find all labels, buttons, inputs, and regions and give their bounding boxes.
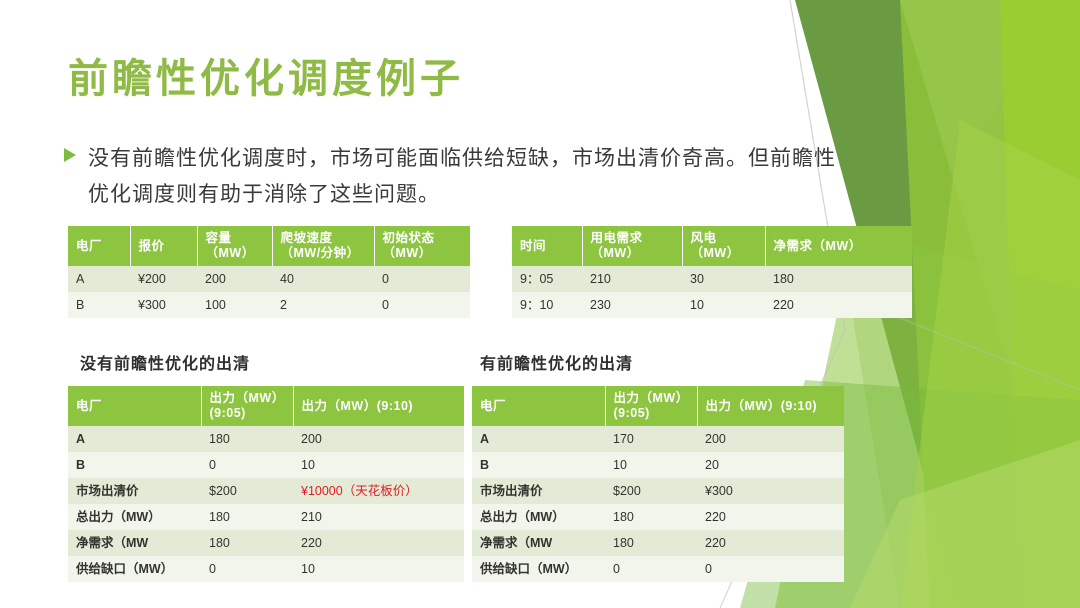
cell: 180 [201,504,293,530]
col-header-capacity: 容量（MW） [197,226,272,266]
col-header-plant: 电厂 [68,386,201,426]
table-row: A 170 200 [472,426,844,452]
table-row: 净需求（MW 180 220 [472,530,844,556]
cell: 210 [293,504,464,530]
cell: $200 [201,478,293,504]
row-label: 总出力（MW） [472,504,605,530]
table-row: 市场出清价 $200 ¥10000（天花板价） [68,478,464,504]
table-row: 总出力（MW） 180 210 [68,504,464,530]
col-header-initial-state-label: 初始状态（MW） [383,231,435,260]
cell: 0 [374,292,470,318]
cell: 30 [682,266,765,292]
col-header-plant-label: 电厂 [76,239,102,253]
col-header-plant-label: 电厂 [76,399,102,413]
cell: 180 [201,530,293,556]
cell-shortfall: 10 [293,556,464,582]
cell: 180 [765,266,912,292]
subheading-with-lookahead: 有前瞻性优化的出清 [480,350,633,374]
row-label: 净需求（MW [68,530,201,556]
table-with-lookahead-clearing: 电厂 出力（MW）(9:05) 出力（MW）(9:10) A 170 200 B… [472,386,844,582]
col-header-output-905-label: 出力（MW）(9:05) [614,391,683,420]
col-header-ramp-rate-label: 爬坡速度（MW/分钟） [281,231,360,260]
deco-shape-bright-green [1000,0,1080,608]
row-label: 供给缺口（MW） [68,556,201,582]
cell: 9：05 [512,266,582,292]
cell: 10 [682,292,765,318]
cell-clearing-price: ¥300 [697,478,844,504]
cell: 0 [374,266,470,292]
bullet-paragraph: 没有前瞻性优化调度时，市场可能面临供给短缺，市场出清价奇高。但前瞻性优化调度则有… [64,140,844,212]
table-row: 供给缺口（MW） 0 0 [472,556,844,582]
table-generators: 电厂 报价 容量（MW） 爬坡速度（MW/分钟） 初始状态（MW） A ¥200… [68,226,470,318]
table-row: 净需求（MW 180 220 [68,530,464,556]
row-label: A [68,426,201,452]
cell: 180 [605,504,697,530]
cell: 180 [201,426,293,452]
cell-shortfall: 0 [697,556,844,582]
table-row: 9：05 210 30 180 [512,266,912,292]
table-row: 9：10 230 10 220 [512,292,912,318]
col-header-wind: 风电（MW） [682,226,765,266]
cell: 220 [697,504,844,530]
row-label: B [68,452,201,478]
subheading-no-lookahead: 没有前瞻性优化的出清 [80,350,250,374]
col-header-output-905: 出力（MW）(9:05) [605,386,697,426]
deco-shape-right-wedge [900,120,1080,608]
cell: 20 [697,452,844,478]
table-row: 总出力（MW） 180 220 [472,504,844,530]
price-cap-value: ¥10000 [301,484,343,498]
cell: 200 [293,426,464,452]
row-label: A [472,426,605,452]
table-row: A ¥200 200 40 0 [68,266,470,292]
col-header-capacity-label: 容量（MW） [206,231,255,260]
cell: 0 [201,452,293,478]
row-label: B [472,452,605,478]
col-header-load-demand-label: 用电需求（MW） [591,231,643,260]
cell: 180 [605,530,697,556]
table-no-lookahead-clearing: 电厂 出力（MW）(9:05) 出力（MW）(9:10) A 180 200 B… [68,386,464,582]
cell: 10 [605,452,697,478]
table-row: 供给缺口（MW） 0 10 [68,556,464,582]
cell: 220 [293,530,464,556]
deco-shape-bottom-light [850,440,1080,608]
col-header-ramp-rate: 爬坡速度（MW/分钟） [272,226,374,266]
col-header-output-905-label: 出力（MW）(9:05) [210,391,279,420]
cell: A [68,266,130,292]
col-header-output-910-label: 出力（MW）(9:10) [302,399,414,413]
row-label: 市场出清价 [472,478,605,504]
col-header-load-demand: 用电需求（MW） [582,226,682,266]
col-header-time-label: 时间 [520,239,546,253]
cell: $200 [605,478,697,504]
cell: 9：10 [512,292,582,318]
cell: 170 [605,426,697,452]
table-header-row: 时间 用电需求（MW） 风电（MW） 净需求（MW） [512,226,912,266]
col-header-plant: 电厂 [68,226,130,266]
bullet-text: 没有前瞻性优化调度时，市场可能面临供给短缺，市场出清价奇高。但前瞻性优化调度则有… [88,140,844,212]
col-header-output-905: 出力（MW）(9:05) [201,386,293,426]
table-row: A 180 200 [68,426,464,452]
cell: 10 [293,452,464,478]
cell: 0 [201,556,293,582]
cell: 0 [605,556,697,582]
cell: 40 [272,266,374,292]
table-header-row: 电厂 报价 容量（MW） 爬坡速度（MW/分钟） 初始状态（MW） [68,226,470,266]
row-label: 供给缺口（MW） [472,556,605,582]
table-row: 市场出清价 $200 ¥300 [472,478,844,504]
col-header-initial-state: 初始状态（MW） [374,226,470,266]
table-row: B 10 20 [472,452,844,478]
table-row: B ¥300 100 2 0 [68,292,470,318]
col-header-net-demand-label: 净需求（MW） [774,239,862,253]
cell: 200 [197,266,272,292]
cell: ¥200 [130,266,197,292]
col-header-output-910-label: 出力（MW）(9:10) [706,399,818,413]
cell: 100 [197,292,272,318]
table-header-row: 电厂 出力（MW）(9:05) 出力（MW）(9:10) [472,386,844,426]
triangle-bullet-icon [64,148,76,162]
cell: 220 [765,292,912,318]
cell: 230 [582,292,682,318]
col-header-output-910: 出力（MW）(9:10) [697,386,844,426]
slide-canvas: 前瞻性优化调度例子 没有前瞻性优化调度时，市场可能面临供给短缺，市场出清价奇高。… [0,0,1080,608]
col-header-net-demand: 净需求（MW） [765,226,912,266]
col-header-plant: 电厂 [472,386,605,426]
col-header-output-910: 出力（MW）(9:10) [293,386,464,426]
table-row: B 0 10 [68,452,464,478]
col-header-plant-label: 电厂 [480,399,506,413]
row-label: 净需求（MW [472,530,605,556]
row-label: 总出力（MW） [68,504,201,530]
col-header-wind-label: 风电（MW） [691,231,740,260]
price-cap-note: （天花板价） [343,484,418,498]
cell-highlighted: ¥10000（天花板价） [293,478,464,504]
row-label: 市场出清价 [68,478,201,504]
col-header-bid-label: 报价 [139,239,165,253]
cell: ¥300 [130,292,197,318]
table-header-row: 电厂 出力（MW）(9:05) 出力（MW）(9:10) [68,386,464,426]
cell: B [68,292,130,318]
cell: 200 [697,426,844,452]
cell: 210 [582,266,682,292]
col-header-time: 时间 [512,226,582,266]
cell: 220 [697,530,844,556]
cell: 2 [272,292,374,318]
page-title: 前瞻性优化调度例子 [68,46,464,104]
col-header-bid: 报价 [130,226,197,266]
table-demand: 时间 用电需求（MW） 风电（MW） 净需求（MW） 9：05 210 30 1… [512,226,912,318]
deco-shape-mid-green [900,0,1080,608]
